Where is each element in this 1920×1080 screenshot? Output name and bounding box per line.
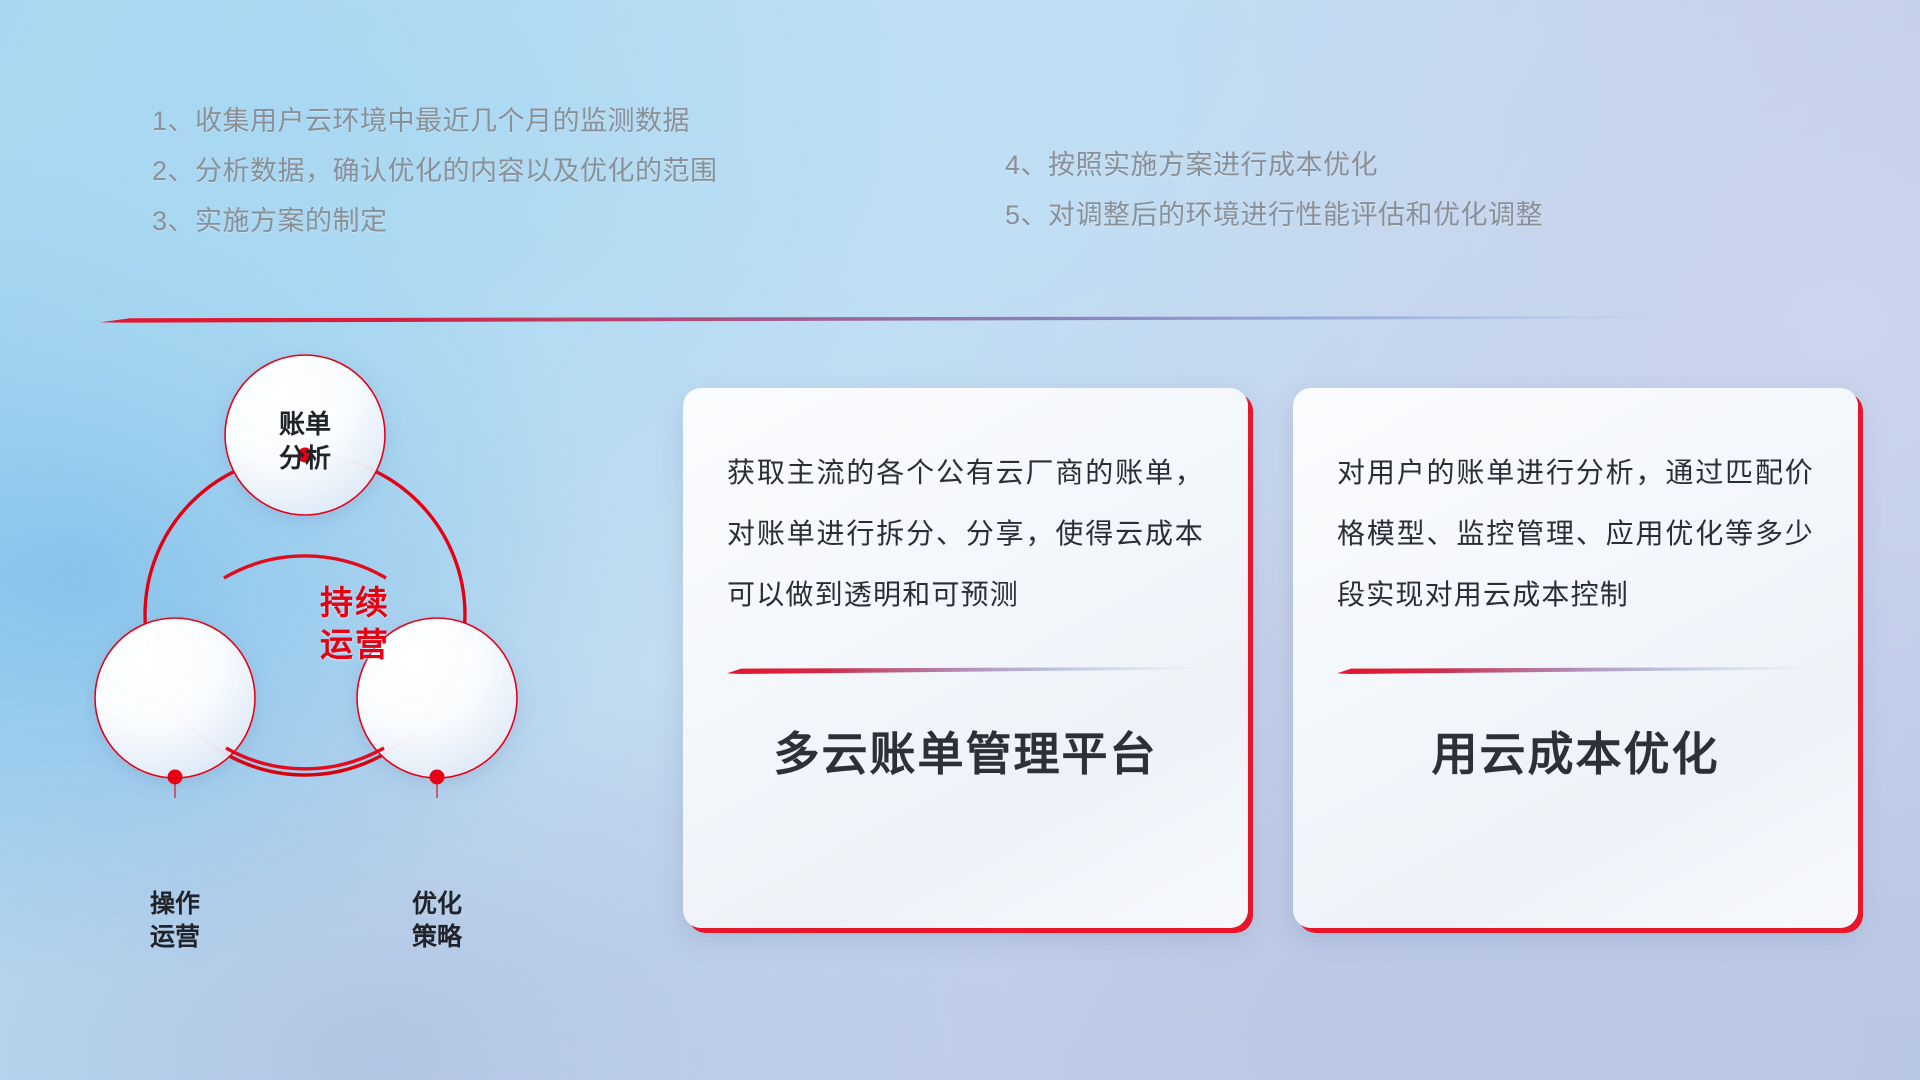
diagram-node-billing-label: 账单 分析: [225, 408, 385, 476]
card-1-divider-shape: [727, 666, 1204, 676]
step-item-5: 5、对调整后的环境进行性能评估和优化调整: [1005, 202, 1805, 229]
diagram-center-label: 持续 运营: [85, 582, 625, 665]
process-steps: 1、收集用户云环境中最近几个月的监测数据 2、分析数据，确认优化的内容以及优化的…: [0, 108, 1920, 298]
card-multi-cloud-billing[interactable]: 获取主流的各个公有云厂商的账单，对账单进行拆分、分享，使得云成本可以做到透明和可…: [683, 388, 1248, 928]
ring-front-arc-top: [224, 556, 386, 578]
steps-column-left: 1、收集用户云环境中最近几个月的监测数据 2、分析数据，确认优化的内容以及优化的…: [152, 108, 912, 258]
continuous-operation-diagram: 账单 分析 操作 运营 优化 策略 持续 运营: [85, 350, 625, 930]
section-divider-shape: [100, 314, 1670, 326]
diagram-node-billing[interactable]: 账单 分析: [225, 350, 385, 510]
card-cloud-cost-optimization[interactable]: 对用户的账单进行分析，通过匹配价格模型、监控管理、应用优化等多少段实现对用云成本…: [1293, 388, 1858, 928]
card-2-divider: [1337, 663, 1814, 673]
card-2-divider-shape: [1337, 666, 1814, 676]
step-item-3: 3、实施方案的制定: [152, 208, 912, 235]
steps-column-right: 4、按照实施方案进行成本优化 5、对调整后的环境进行性能评估和优化调整: [1005, 152, 1805, 252]
step-item-2: 2、分析数据，确认优化的内容以及优化的范围: [152, 158, 912, 185]
card-1-body-text: 获取主流的各个公有云厂商的账单，对账单进行拆分、分享，使得云成本可以做到透明和可…: [727, 442, 1204, 625]
step-item-1: 1、收集用户云环境中最近几个月的监测数据: [152, 108, 912, 135]
section-divider: [100, 313, 1670, 325]
card-1-divider: [727, 663, 1204, 673]
card-1-title: 多云账单管理平台: [727, 729, 1204, 780]
step-item-4: 4、按照实施方案进行成本优化: [1005, 152, 1805, 179]
card-2-body-text: 对用户的账单进行分析，通过匹配价格模型、监控管理、应用优化等多少段实现对用云成本…: [1337, 442, 1814, 625]
card-2-title: 用云成本优化: [1337, 729, 1814, 780]
